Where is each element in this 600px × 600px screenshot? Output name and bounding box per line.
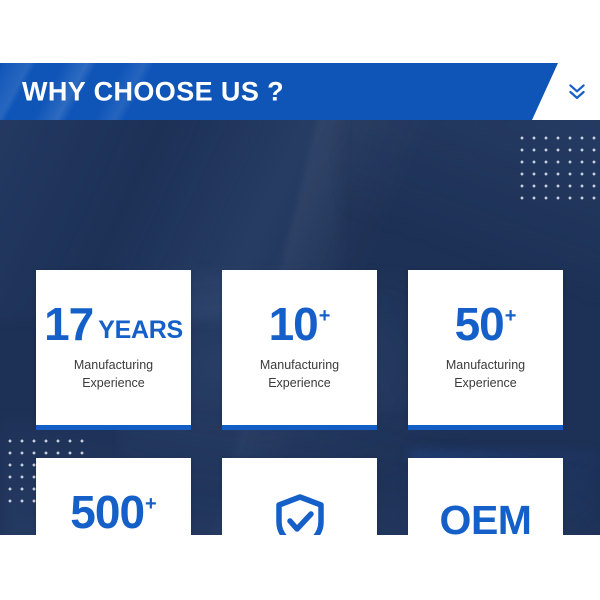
card-caption: Manufacturing Experience [446,356,525,392]
stat-number: 10 [269,303,318,345]
card-caption-line1: Manufacturing [446,356,525,374]
double-chevron-down-icon[interactable] [568,81,586,103]
stat-number: OEM [440,502,532,535]
stat-number: 500 [70,491,144,533]
stat-value: 500 + [70,491,156,533]
feature-card-quality-assurance[interactable]: Quality Assurance [222,458,377,535]
card-caption: Manufacturing Experience [260,356,339,392]
stat-plus-sign: + [504,303,517,325]
feature-card-capacity[interactable]: 500 + Manufacturing Experience [36,458,191,535]
feature-card-years[interactable]: 17 YEARS Manufacturing Experience [36,270,191,425]
card-caption: Manufacturing Experience [74,356,153,392]
feature-card-workers[interactable]: 50 + Manufacturing Experience [408,270,563,425]
why-choose-us-banner: WHY CHOOSE US ? 17 YEARS [0,0,600,600]
card-caption-line2: Experience [74,374,153,392]
feature-card-production-lines[interactable]: 10 + Manufacturing Experience [222,270,377,425]
stat-number: 50 [455,303,504,345]
stat-plus-sign: + [318,303,331,325]
feature-card-oem[interactable]: OEM OEM Service [408,458,563,535]
card-caption-line2: Experience [260,374,339,392]
page-title: WHY CHOOSE US ? [22,76,284,107]
stat-value: 50 + [455,303,517,345]
content-panel: 17 YEARS Manufacturing Experience 10 + M… [0,120,600,535]
card-caption-line1: Manufacturing [74,356,153,374]
shield-check-icon [274,494,326,536]
dot-pattern-top-right [516,132,600,204]
header-right-wedge [532,63,600,120]
card-caption-line1: Manufacturing [260,356,339,374]
stat-value: 10 + [269,303,331,345]
stat-number: 17 [44,303,93,345]
stat-value: 17 YEARS [44,303,183,345]
stat-plus-sign: + [144,491,157,513]
stat-unit: YEARS [93,319,183,345]
feature-card-grid: 17 YEARS Manufacturing Experience 10 + M… [36,270,564,535]
card-caption-line2: Experience [446,374,525,392]
stat-value: OEM [440,502,532,535]
header-band: WHY CHOOSE US ? [0,63,600,120]
